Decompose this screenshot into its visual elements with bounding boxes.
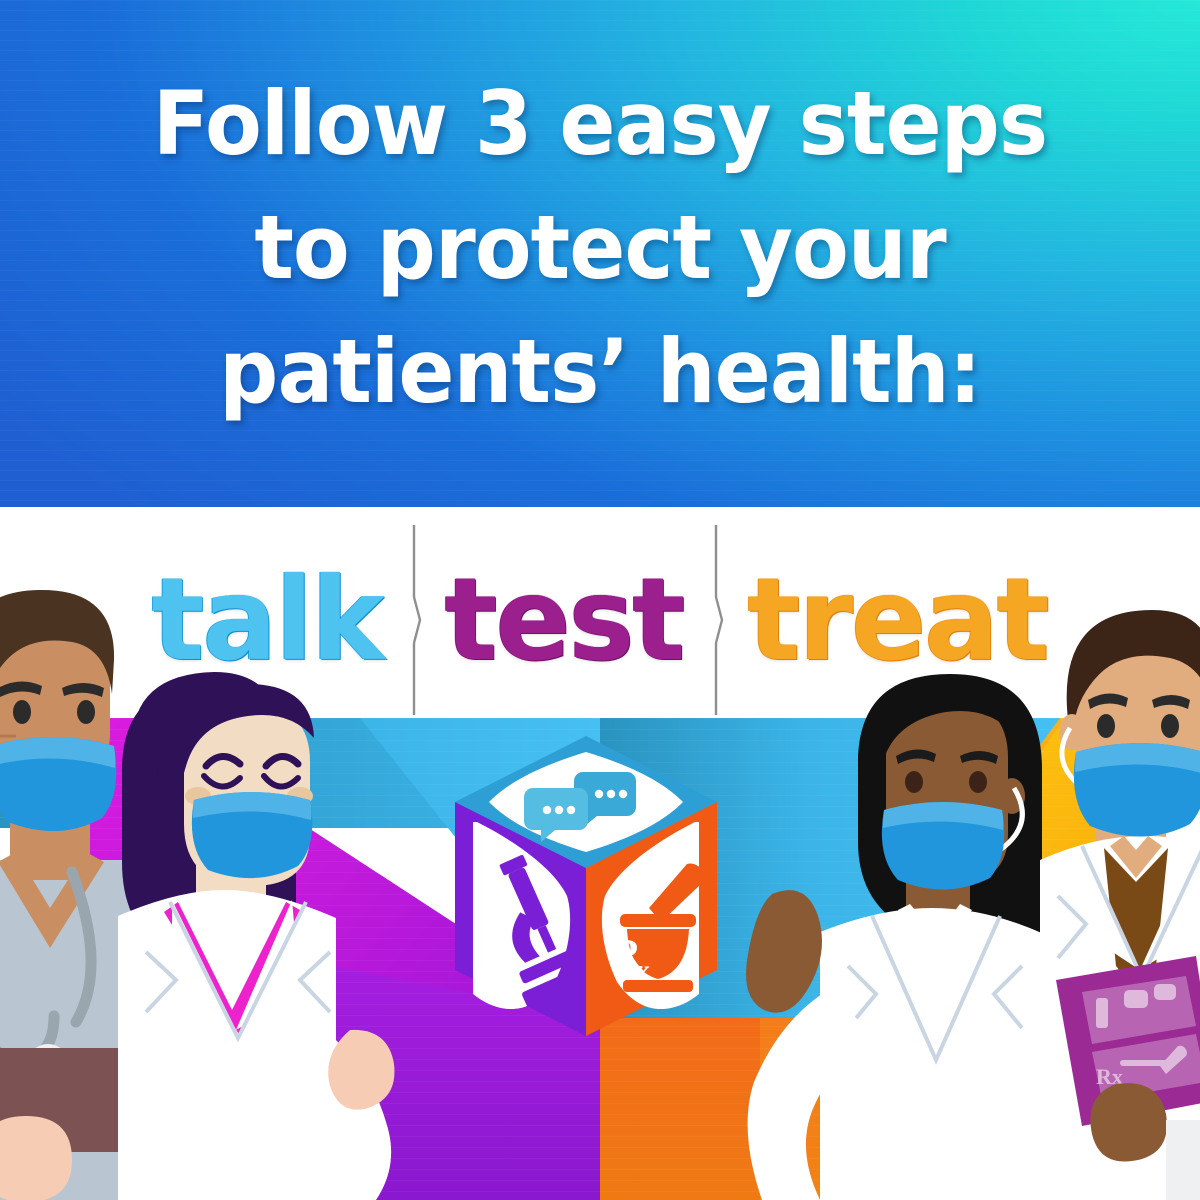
logo-word-test: test [420,561,709,679]
talk-test-treat-cube-icon: R x [455,736,717,1036]
headline-line-2: to protect your [36,186,1164,310]
chevron-divider-1 [412,525,415,699]
svg-text:x: x [635,954,650,987]
headline-line-3: patients’ health: [36,310,1164,434]
page-title: Follow 3 easy steps to protect your pati… [36,62,1164,434]
headline-line-1: Follow 3 easy steps [36,62,1164,186]
poster-root: Follow 3 easy steps to protect your pati… [0,0,1200,1200]
logo-band: talk test treat [0,507,1200,718]
illustration-stage: R x [0,718,1200,1200]
talk-test-treat-logo: talk test treat [0,541,1200,699]
logo-word-treat: treat [722,561,1073,679]
bottom-left-gray-accent [0,1176,154,1200]
bottom-right-lightgray-panel [940,1130,1030,1170]
header-banner: Follow 3 easy steps to protect your pati… [0,0,1200,507]
bottom-right-gray-accent [940,1168,1030,1200]
logo-word-talk: talk [126,561,408,679]
chevron-divider-2 [714,525,717,699]
